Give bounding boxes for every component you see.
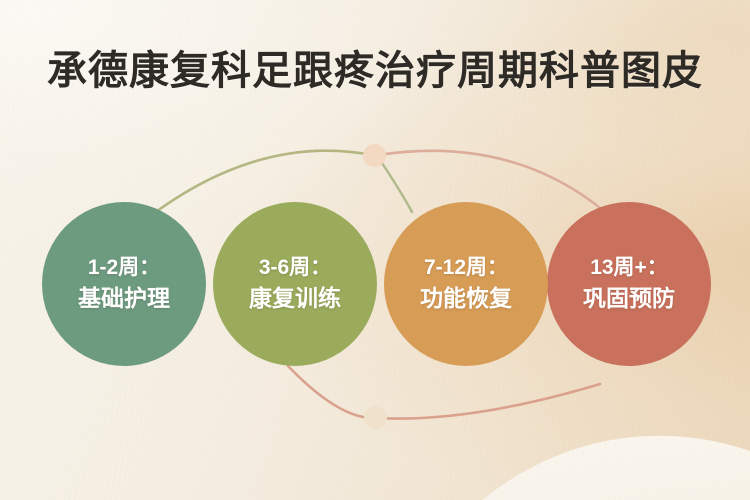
stage-label-2: 康复训练: [249, 285, 341, 312]
stage-circle-group: 1-2周： 基础护理 3-6周： 康复训练 7-12周： 功能恢复 13周+： …: [0, 0, 750, 500]
stage-circle-2[interactable]: 3-6周： 康复训练: [213, 202, 377, 366]
stage-label-3: 功能恢复: [420, 285, 512, 312]
stage-period-3: 7-12周：: [424, 256, 508, 281]
stage-label-1: 基础护理: [78, 285, 170, 312]
stage-circle-1[interactable]: 1-2周： 基础护理: [42, 202, 206, 366]
stage-circle-4[interactable]: 13周+： 巩固预防: [547, 202, 711, 366]
stage-period-1: 1-2周：: [88, 256, 160, 281]
infographic-poster: 承德康复科足跟疼治疗周期科普图皮 1-2周： 基础护理 3-6周： 康复训练 7…: [0, 0, 750, 500]
stage-circle-3[interactable]: 7-12周： 功能恢复: [384, 202, 548, 366]
stage-label-4: 巩固预防: [583, 285, 675, 312]
stage-period-2: 3-6周：: [259, 256, 331, 281]
stage-period-4: 13周+：: [590, 256, 668, 281]
